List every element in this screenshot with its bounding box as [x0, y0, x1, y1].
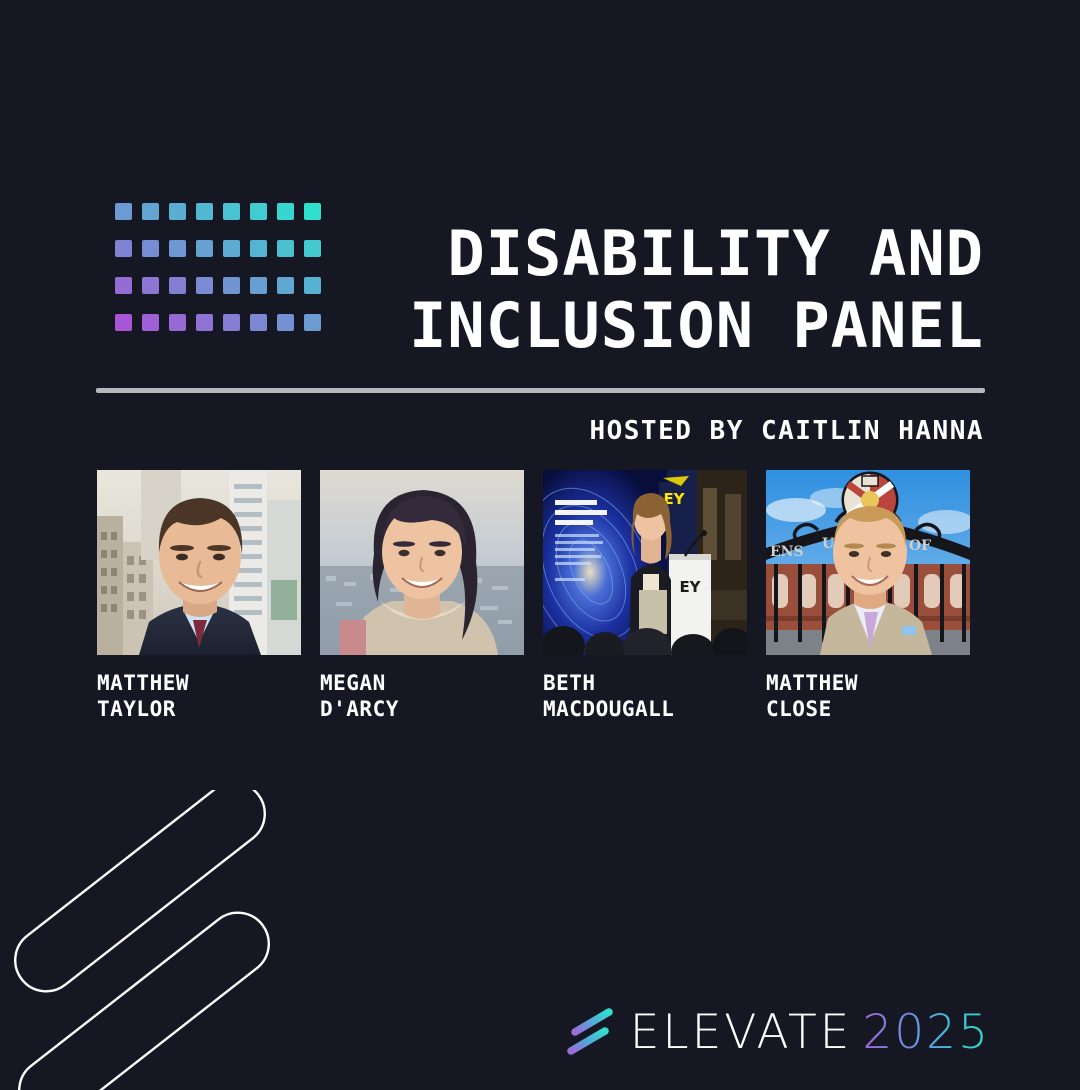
- svg-text:ENS: ENS: [770, 544, 804, 560]
- panelist-card: ENSUNIVY OF: [766, 470, 970, 722]
- panelist-card: MEGAN D'ARCY: [320, 470, 524, 722]
- dot-matrix-decoration: [115, 203, 331, 351]
- matrix-dot: [142, 277, 159, 294]
- hosted-by-label: HOSTED BY CAITLIN HANNA: [589, 416, 984, 446]
- panelist-photo: [97, 470, 301, 655]
- panelist-name-line-1: MEGAN: [320, 670, 524, 696]
- headshot-matthew-taylor-image: [97, 470, 301, 655]
- panelist-name-line-2: CLOSE: [766, 696, 970, 722]
- svg-text:EY: EY: [679, 578, 701, 596]
- title-line-2: INCLUSION PANEL: [409, 290, 984, 362]
- panelist-name-line-1: MATTHEW: [766, 670, 970, 696]
- matrix-dot: [142, 314, 159, 331]
- panelist-name: MATTHEW TAYLOR: [97, 670, 301, 722]
- panelist-name: BETH MACDOUGALL: [543, 670, 747, 722]
- matrix-dot: [304, 203, 321, 220]
- matrix-dot: [169, 314, 186, 331]
- panelist-photo: EY EY: [543, 470, 747, 655]
- logo-wordmark: ELEVATE: [630, 1009, 853, 1056]
- matrix-dot: [115, 277, 132, 294]
- matrix-dot: [277, 203, 294, 220]
- matrix-dot: [250, 240, 267, 257]
- panelist-name: MATTHEW CLOSE: [766, 670, 970, 722]
- matrix-dot: [196, 240, 213, 257]
- double-slash-icon: [566, 1006, 620, 1058]
- page-title: DISABILITY AND INCLUSION PANEL: [409, 218, 984, 362]
- panelist-name-line-1: BETH: [543, 670, 747, 696]
- matrix-dot: [169, 277, 186, 294]
- matrix-dot: [223, 314, 240, 331]
- panelist-name: MEGAN D'ARCY: [320, 670, 524, 722]
- pill-outline-upper: [3, 790, 278, 1004]
- logo-wordmark-group: ELEVATE 2025: [630, 1009, 990, 1056]
- panelist-name-line-1: MATTHEW: [97, 670, 301, 696]
- horizontal-divider: [96, 388, 985, 393]
- panelist-name-line-2: TAYLOR: [97, 696, 301, 722]
- matrix-dot: [277, 240, 294, 257]
- matrix-dot: [304, 240, 321, 257]
- panelist-name-line-2: MACDOUGALL: [543, 696, 747, 722]
- panelist-photo: [320, 470, 524, 655]
- poster-canvas: DISABILITY AND INCLUSION PANEL HOSTED BY…: [0, 0, 1080, 1080]
- matrix-dot: [196, 314, 213, 331]
- pill-outline-lower: [7, 900, 282, 1090]
- matrix-dot: [250, 314, 267, 331]
- title-line-1: DISABILITY AND: [409, 218, 984, 290]
- panelist-name-line-2: D'ARCY: [320, 696, 524, 722]
- matrix-dot: [250, 277, 267, 294]
- logo-year: 2025: [862, 1009, 990, 1056]
- panelist-photo: ENSUNIVY OF: [766, 470, 970, 655]
- matrix-dot: [196, 203, 213, 220]
- matrix-dot: [223, 203, 240, 220]
- matrix-dot: [142, 240, 159, 257]
- matrix-dot: [250, 203, 267, 220]
- matrix-dot: [277, 277, 294, 294]
- matrix-dot: [115, 240, 132, 257]
- matrix-dot: [277, 314, 294, 331]
- matrix-dot: [304, 314, 321, 331]
- matrix-dot: [142, 203, 159, 220]
- matrix-dot: [223, 240, 240, 257]
- panelist-list: MATTHEW TAYLOR: [97, 470, 987, 722]
- headshot-megan-darcy-image: [320, 470, 524, 655]
- panelist-card: MATTHEW TAYLOR: [97, 470, 301, 722]
- matrix-dot: [115, 203, 132, 220]
- headshot-matthew-close-image: ENSUNIVY OF: [766, 470, 970, 655]
- rounded-slash-outline-decoration: [0, 790, 360, 1090]
- speaker-beth-macdougall-image: EY EY: [543, 470, 747, 655]
- matrix-dot: [223, 277, 240, 294]
- elevate-logo: ELEVATE 2025: [566, 1006, 990, 1058]
- panelist-card: EY EY: [543, 470, 747, 722]
- matrix-dot: [196, 277, 213, 294]
- matrix-dot: [169, 240, 186, 257]
- matrix-dot: [115, 314, 132, 331]
- matrix-dot: [304, 277, 321, 294]
- matrix-dot: [169, 203, 186, 220]
